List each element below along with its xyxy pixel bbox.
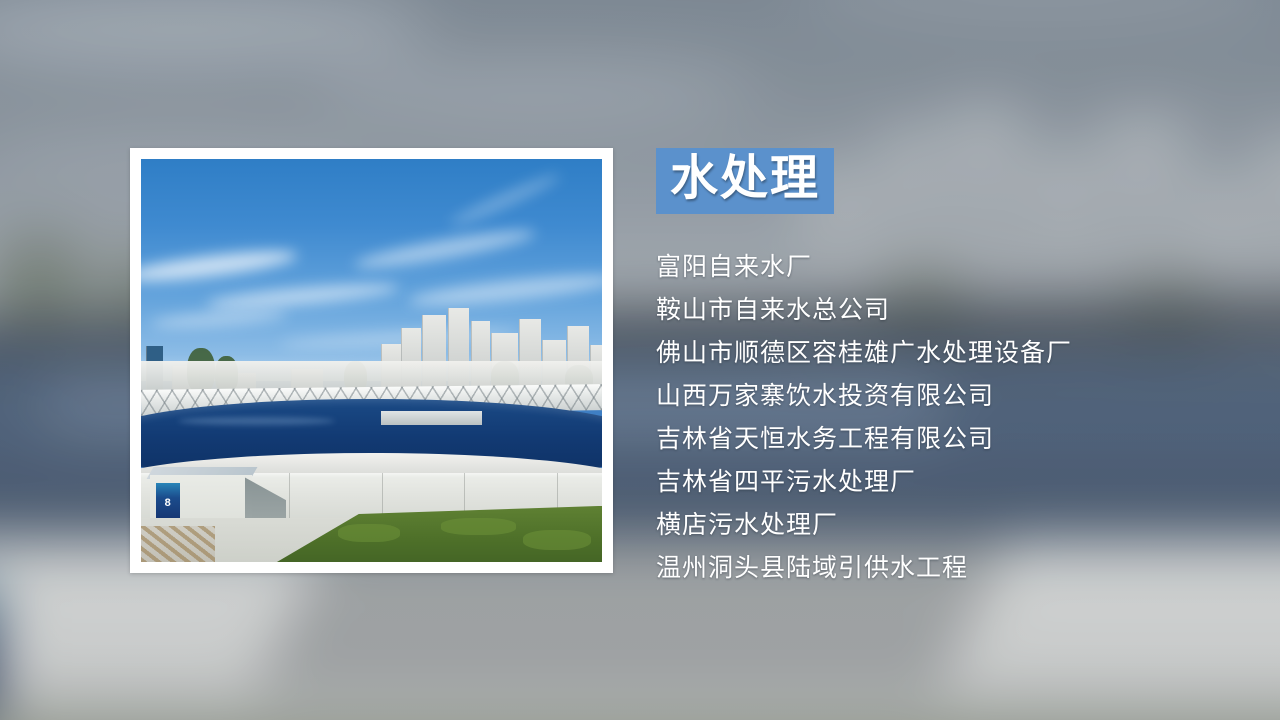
page-title: 水处理 [670, 152, 820, 206]
customer-list: 富阳自来水厂 鞍山市自来水总公司 佛山市顺德区容桂雄广水处理设备厂 山西万家寨饮… [656, 246, 1236, 590]
photo-card: 8 [130, 148, 613, 573]
list-item: 吉林省四平污水处理厂 [656, 461, 1236, 504]
list-item: 山西万家寨饮水投资有限公司 [656, 375, 1236, 418]
list-item: 横店污水处理厂 [656, 504, 1236, 547]
list-item: 富阳自来水厂 [656, 246, 1236, 289]
slide-canvas: 8 水处理 富阳自来水厂 鞍山市自来水总公司 佛山市顺德区容桂雄广水处理设备厂 … [0, 0, 1280, 720]
list-item: 鞍山市自来水总公司 [656, 289, 1236, 332]
page-title-box: 水处理 [656, 148, 834, 214]
photo-basin-scraper-bridge [381, 411, 482, 426]
list-item: 温州洞头县陆域引供水工程 [656, 547, 1236, 590]
photo-paver-patch [141, 526, 215, 562]
photo-image: 8 [141, 159, 602, 562]
photo-water-reflection [178, 417, 335, 425]
list-item: 佛山市顺德区容桂雄广水处理设备厂 [656, 332, 1236, 375]
photo-number-sign-label: 8 [165, 498, 171, 509]
content-column: 水处理 富阳自来水厂 鞍山市自来水总公司 佛山市顺德区容桂雄广水处理设备厂 山西… [656, 148, 1236, 590]
list-item: 吉林省天恒水务工程有限公司 [656, 418, 1236, 461]
